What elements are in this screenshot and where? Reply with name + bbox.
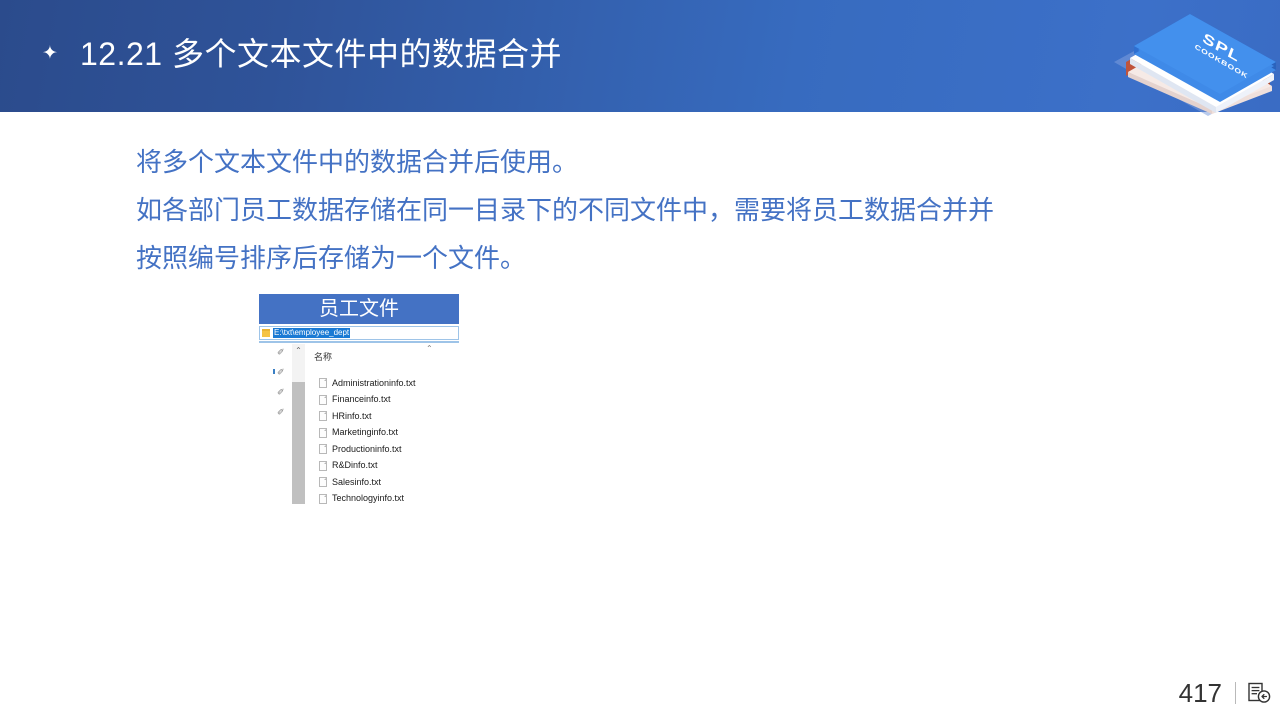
folder-icon [262,329,270,337]
file-name[interactable]: Marketinginfo.txt [332,427,398,438]
text-file-icon [319,494,327,504]
file-name[interactable]: R&Dinfo.txt [332,460,378,471]
slide-header-band: ✦ 12.21 多个文本文件中的数据合并 SPL COOKBOOK [0,0,1280,112]
file-name[interactable]: Financeinfo.txt [332,394,391,405]
text-file-icon [319,428,327,438]
body-line-1: 将多个文本文件中的数据合并后使用。 [136,138,1146,186]
body-line-3: 按照编号排序后存储为一个文件。 [136,234,1146,282]
text-file-icon [319,477,327,487]
pin-icon[interactable]: ✐ [277,408,286,417]
list-item[interactable]: Productioninfo.txt [319,441,464,458]
body-paragraph: 将多个文本文件中的数据合并后使用。 如各部门员工数据存储在同一目录下的不同文件中… [136,138,1146,282]
file-list: Administrationinfo.txt Financeinfo.txt H… [319,375,464,507]
page-number: 417 [1179,678,1222,708]
title-bullet-star-icon: ✦ [40,44,60,64]
text-file-icon [319,411,327,421]
text-file-icon [319,395,327,405]
list-item[interactable]: HRinfo.txt [319,408,464,425]
list-item[interactable]: Salesinfo.txt [319,474,464,491]
nav-tree-marker [273,369,275,374]
page-title: 12.21 多个文本文件中的数据合并 [80,31,562,77]
explorer-caption-banner: 员工文件 [259,294,459,324]
scrollbar-thumb[interactable] [292,382,305,504]
list-item[interactable]: Marketinginfo.txt [319,425,464,442]
file-name[interactable]: Technologyinfo.txt [332,493,404,504]
text-file-icon [319,444,327,454]
file-name[interactable]: Productioninfo.txt [332,444,402,455]
chevron-up-icon[interactable]: ⌃ [292,344,305,357]
file-name[interactable]: Administrationinfo.txt [332,378,416,389]
footer-divider [1235,682,1236,704]
file-name[interactable]: Salesinfo.txt [332,477,381,488]
text-file-icon [319,378,327,388]
address-bar[interactable]: E:\txt\employee_dept [259,326,459,340]
pin-icon[interactable]: ✐ [277,368,286,377]
spl-cookbook-logo: SPL COOKBOOK [1108,6,1280,118]
file-name[interactable]: HRinfo.txt [332,411,372,422]
sort-ascending-chevron-icon: ⌃ [426,343,433,355]
body-line-2: 如各部门员工数据存储在同一目录下的不同文件中，需要将员工数据合并并 [136,186,1146,234]
list-item[interactable]: Administrationinfo.txt [319,375,464,392]
pin-icon[interactable]: ✐ [277,348,286,357]
document-back-icon[interactable] [1246,680,1272,706]
vertical-scrollbar[interactable]: ⌃ [292,344,305,504]
pin-icon[interactable]: ✐ [277,388,286,397]
column-header-row: 名称 ⌃ [314,351,459,363]
list-item[interactable]: Financeinfo.txt [319,392,464,409]
column-header-name[interactable]: 名称 [314,351,332,363]
list-item[interactable]: R&Dinfo.txt [319,458,464,475]
address-path-text[interactable]: E:\txt\employee_dept [273,328,350,338]
list-item[interactable]: Technologyinfo.txt [319,491,464,508]
text-file-icon [319,461,327,471]
file-explorer-screenshot: 员工文件 E:\txt\employee_dept ✐ ✐ ✐ ✐ ⌃ 名称 ⌃… [259,294,461,510]
